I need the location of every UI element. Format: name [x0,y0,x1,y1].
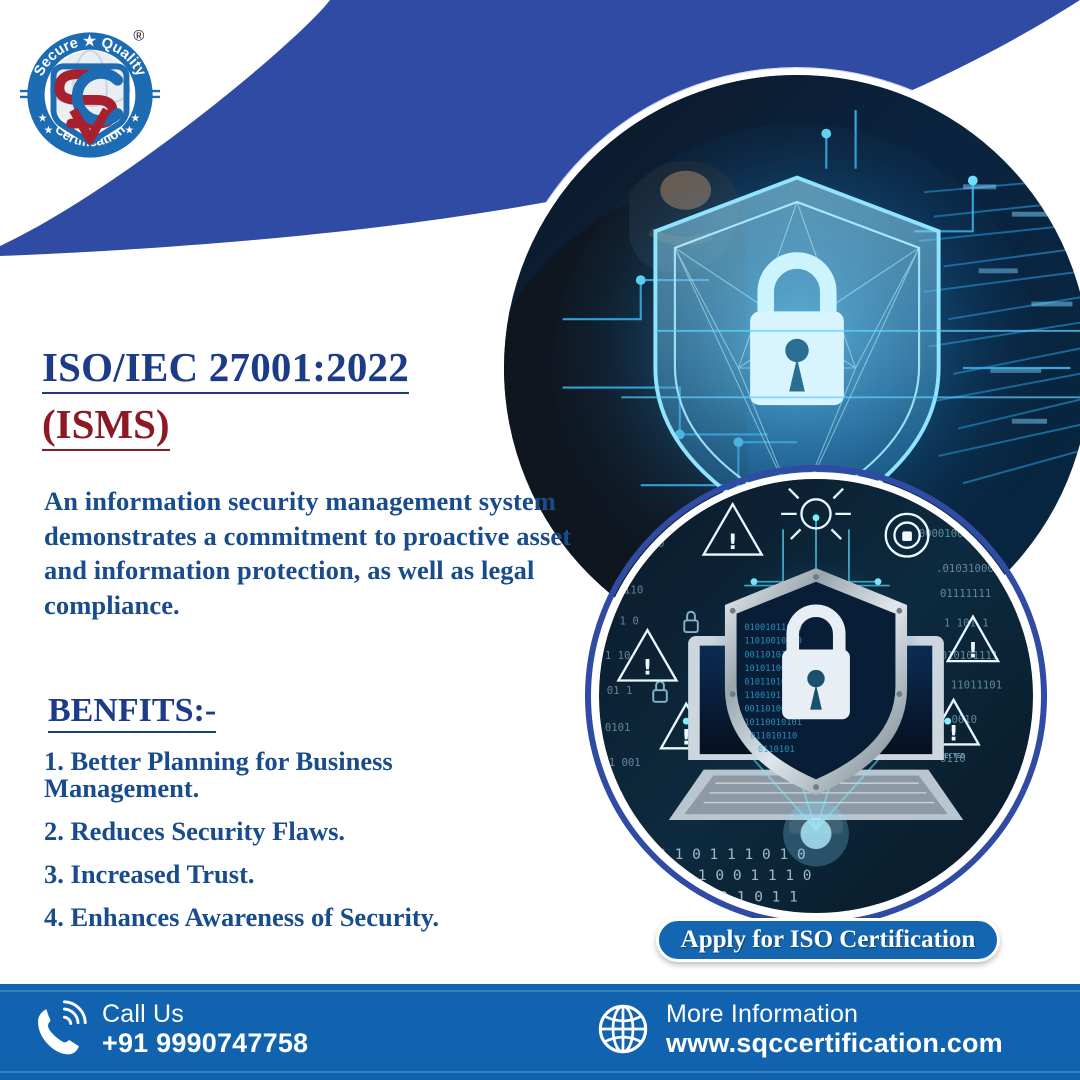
logo-registered-mark: ® [133,29,144,45]
svg-text:1 0 0 1 0 0 1 1 1 0: 1 0 0 1 0 0 1 1 1 0 [646,868,812,884]
list-item: 2. Reduces Security Flaws. [44,818,624,845]
svg-text:01111111: 01111111 [940,587,991,600]
website-url[interactable]: www.sqccertification.com [666,1028,1003,1058]
svg-text:!: ! [949,722,959,747]
svg-text:011010110: 011010110 [750,732,797,742]
benefits-heading: BENFITS:- [48,692,216,733]
benefit-1-line-2: Management. [44,775,624,802]
svg-text:1 001: 1 001 [609,756,641,769]
contact-footer: Call Us +91 9990747758 More Information … [0,984,1080,1080]
svg-text:01 1: 01 1 [607,684,633,697]
globe-icon [594,1000,652,1058]
page-title: ISO/IEC 27001:2022 (ISMS) [42,345,512,451]
website-block[interactable]: More Information www.sqccertification.co… [594,1000,1003,1058]
apply-for-iso-certification-button[interactable]: Apply for ISO Certification [656,918,1000,962]
svg-text:10110010101: 10110010101 [744,718,802,728]
sqc-certification-seal-icon: Secure ★ Quality Certification ★★ ★★ ® [16,18,164,168]
poster-canvas: Secure ★ Quality Certification ★★ ★★ ® [0,0,1080,1080]
phone-ringing-icon [30,1000,88,1058]
laptop-shield-padlock-binary-photo: 10 10001000001000 01 10.010310001 1 0110… [592,472,1040,920]
svg-text:1 0110: 1 0110 [605,583,643,596]
svg-text:★: ★ [125,123,135,136]
svg-text:1 11011101: 1 11011101 [938,678,1002,691]
list-item: 3. Increased Trust. [44,861,624,888]
svg-text:01 10: 01 10 [609,558,641,571]
svg-text:!: ! [728,530,738,555]
svg-text:0101: 0101 [605,721,631,734]
svg-text:0 1 0 1 1 1 0 1 0: 0 1 0 1 1 1 0 1 0 [657,847,806,863]
list-item: 1. Better Planning for Business Manageme… [44,748,624,802]
call-us-block[interactable]: Call Us +91 9990747758 [30,1000,308,1058]
standard-acronym: (ISMS) [42,402,170,451]
svg-text:★: ★ [44,123,54,136]
svg-text:10 100010: 10 100010 [607,537,665,550]
svg-text:0110101: 0110101 [758,745,795,755]
list-item: 4. Enhances Awareness of Security. [44,904,624,931]
more-information-label: More Information [666,1000,1003,1028]
svg-text:0 1 0: 0 1 0 [607,614,639,627]
svg-text:1 10: 1 10 [605,649,631,662]
benefits-list: 1. Better Planning for Business Manageme… [44,748,624,947]
standard-title: ISO/IEC 27001:2022 [42,345,409,394]
phone-number[interactable]: +91 9990747758 [102,1028,308,1058]
svg-text:!: ! [643,656,653,681]
svg-text:.010310001: .010310001 [936,562,1000,575]
call-us-label: Call Us [102,1000,308,1028]
description-text: An information security management syste… [44,484,604,623]
svg-text:1 1 0 0 1 0 1 1: 1 1 0 0 1 0 1 1 [667,889,798,905]
svg-text:!: ! [968,638,978,663]
benefit-1-line-1: 1. Better Planning for Business [44,748,624,775]
